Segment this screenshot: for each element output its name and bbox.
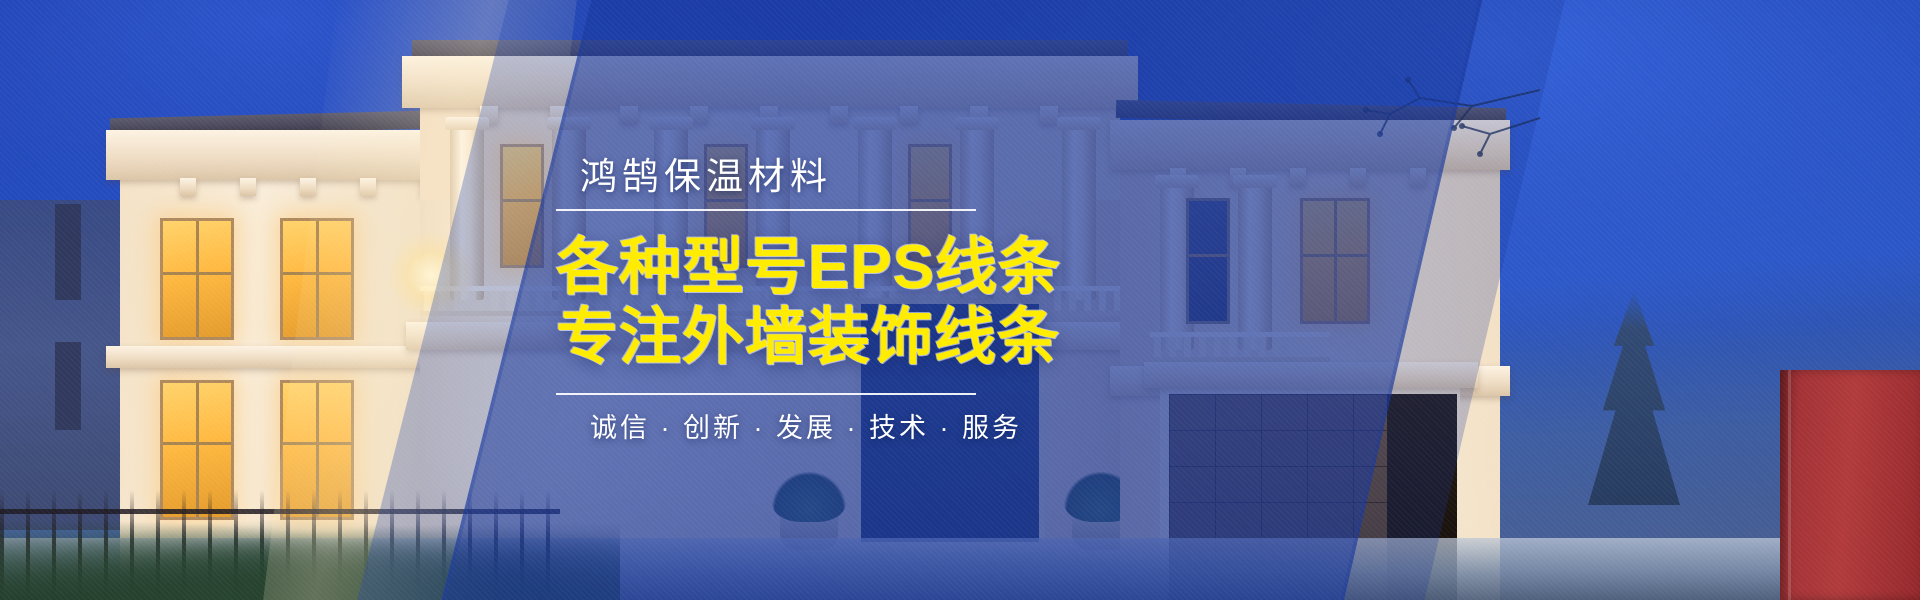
tagline: 诚信 · 创新 · 发展 · 技术 · 服务 — [590, 415, 1022, 442]
banner-text-block: 鸿鹄保温材料 各种型号EPS线条 专注外墙装饰线条 诚信 · 创新 · 发展 ·… — [0, 0, 1920, 600]
divider-bottom — [556, 393, 976, 395]
headline-line-2: 专注外墙装饰线条 — [556, 303, 1060, 373]
promo-banner: 鸿鹄保温材料 各种型号EPS线条 专注外墙装饰线条 诚信 · 创新 · 发展 ·… — [0, 0, 1920, 600]
headline-line-1: 各种型号EPS线条 — [556, 233, 1061, 303]
divider-top — [556, 209, 976, 211]
company-name: 鸿鹄保温材料 — [580, 158, 832, 195]
